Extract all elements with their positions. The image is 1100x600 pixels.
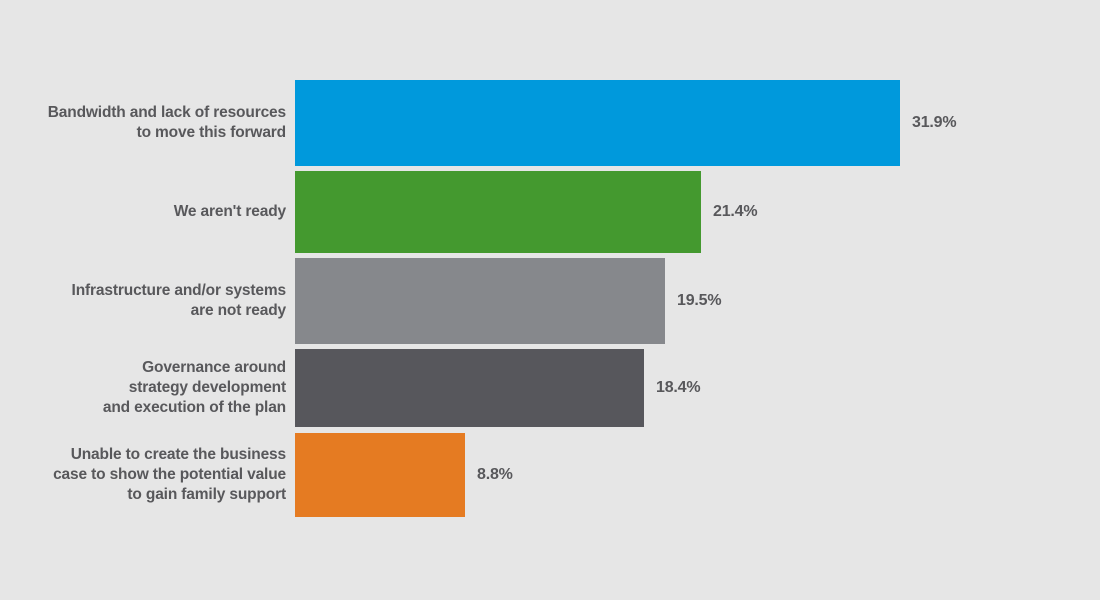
category-label: Infrastructure and/or systems are not re… xyxy=(0,281,295,321)
plot-area: Bandwidth and lack of resources to move … xyxy=(0,80,1100,525)
bar-row: Bandwidth and lack of resources to move … xyxy=(0,80,1100,166)
bar-segment[interactable] xyxy=(295,349,644,427)
bar-segment[interactable] xyxy=(295,80,900,166)
bar-value-label: 8.8% xyxy=(465,466,513,484)
bar-chart: Bandwidth and lack of resources to move … xyxy=(0,0,1100,600)
bar-row: We aren't ready 21.4% xyxy=(0,171,1100,253)
bar-value-label: 19.5% xyxy=(665,292,721,310)
bar-segment[interactable] xyxy=(295,258,665,344)
category-label: Bandwidth and lack of resources to move … xyxy=(0,103,295,143)
bar-track: 31.9% xyxy=(295,80,1100,166)
bar-value-label: 21.4% xyxy=(701,203,757,221)
bar-row: Infrastructure and/or systems are not re… xyxy=(0,258,1100,344)
bar-track: 21.4% xyxy=(295,171,1100,253)
category-label: Unable to create the business case to sh… xyxy=(0,445,295,505)
bar-value-label: 31.9% xyxy=(900,114,956,132)
bar-value-label: 18.4% xyxy=(644,379,700,397)
bar-track: 19.5% xyxy=(295,258,1100,344)
bar-track: 8.8% xyxy=(295,433,1100,517)
bar-track: 18.4% xyxy=(295,349,1100,427)
category-label: We aren't ready xyxy=(0,202,295,222)
bar-row: Governance around strategy development a… xyxy=(0,349,1100,427)
bar-segment[interactable] xyxy=(295,171,701,253)
category-label: Governance around strategy development a… xyxy=(0,358,295,418)
bar-row: Unable to create the business case to sh… xyxy=(0,433,1100,517)
bar-segment[interactable] xyxy=(295,433,465,517)
